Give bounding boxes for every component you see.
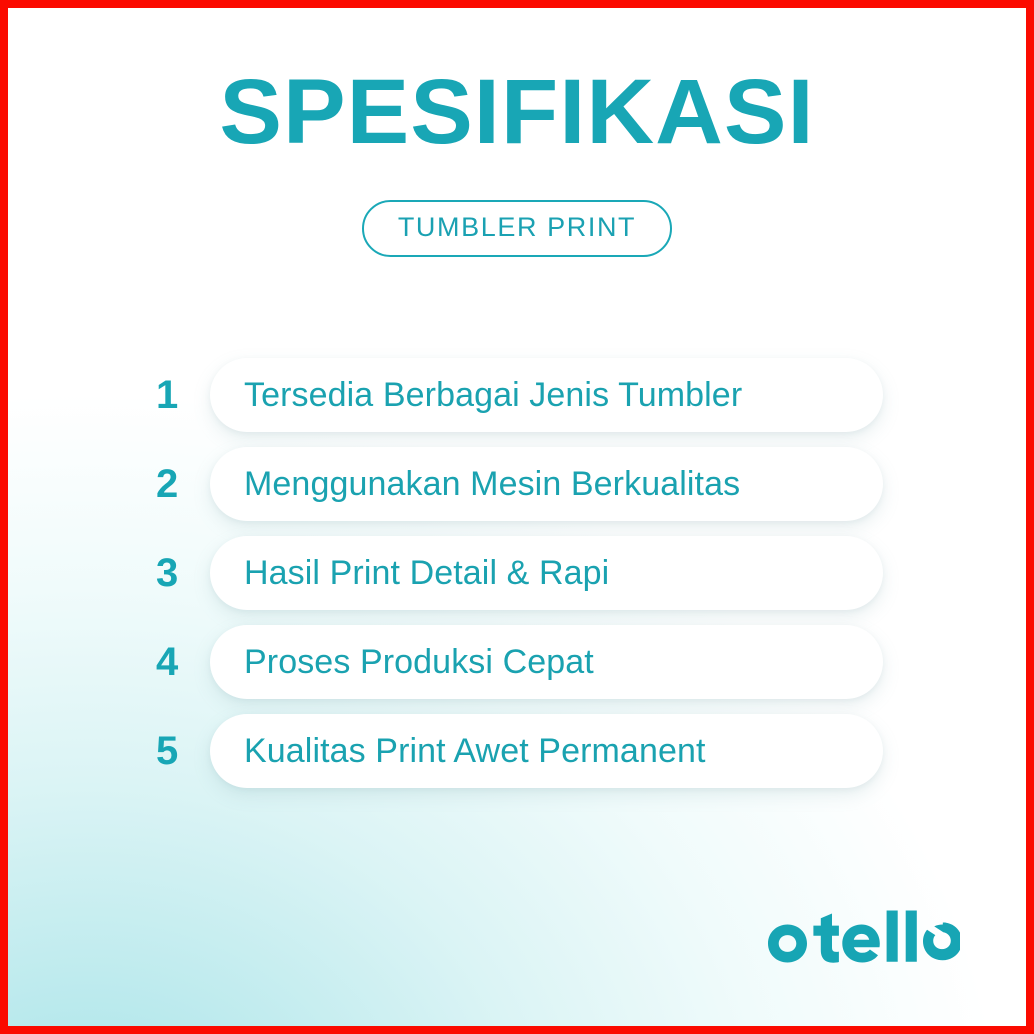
- poster-canvas: SPESIFIKASI TUMBLER PRINT 1 Tersedia Ber…: [8, 8, 1026, 1026]
- list-item-label: Proses Produksi Cepat: [244, 645, 594, 679]
- list-item: 4 Proses Produksi Cepat: [8, 625, 1026, 699]
- brand-logo: [764, 904, 960, 970]
- list-item-label: Tersedia Berbagai Jenis Tumbler: [244, 378, 742, 412]
- poster-header: SPESIFIKASI: [8, 66, 1026, 158]
- list-item-number: 5: [156, 714, 198, 788]
- list-item-label: Hasil Print Detail & Rapi: [244, 556, 609, 590]
- list-item: 3 Hasil Print Detail & Rapi: [8, 536, 1026, 610]
- list-item-number: 3: [156, 536, 198, 610]
- list-item-pill: Kualitas Print Awet Permanent: [210, 714, 883, 788]
- list-item-label: Kualitas Print Awet Permanent: [244, 734, 706, 768]
- status-badge: TUMBLER PRINT: [362, 200, 672, 257]
- list-item-number: 2: [156, 447, 198, 521]
- list-item: 5 Kualitas Print Awet Permanent: [8, 714, 1026, 788]
- list-item: 1 Tersedia Berbagai Jenis Tumbler: [8, 358, 1026, 432]
- subtitle-badge-row: TUMBLER PRINT: [8, 200, 1026, 257]
- list-item-pill: Tersedia Berbagai Jenis Tumbler: [210, 358, 883, 432]
- list-item-pill: Hasil Print Detail & Rapi: [210, 536, 883, 610]
- list-item-pill: Proses Produksi Cepat: [210, 625, 883, 699]
- list-item-label: Menggunakan Mesin Berkualitas: [244, 467, 740, 501]
- list-item-number: 4: [156, 625, 198, 699]
- poster-red-frame: SPESIFIKASI TUMBLER PRINT 1 Tersedia Ber…: [0, 0, 1034, 1034]
- list-item: 2 Menggunakan Mesin Berkualitas: [8, 447, 1026, 521]
- list-item-pill: Menggunakan Mesin Berkualitas: [210, 447, 883, 521]
- spec-list: 1 Tersedia Berbagai Jenis Tumbler 2 Meng…: [8, 358, 1026, 803]
- page-title: SPESIFIKASI: [8, 66, 1026, 158]
- list-item-number: 1: [156, 358, 198, 432]
